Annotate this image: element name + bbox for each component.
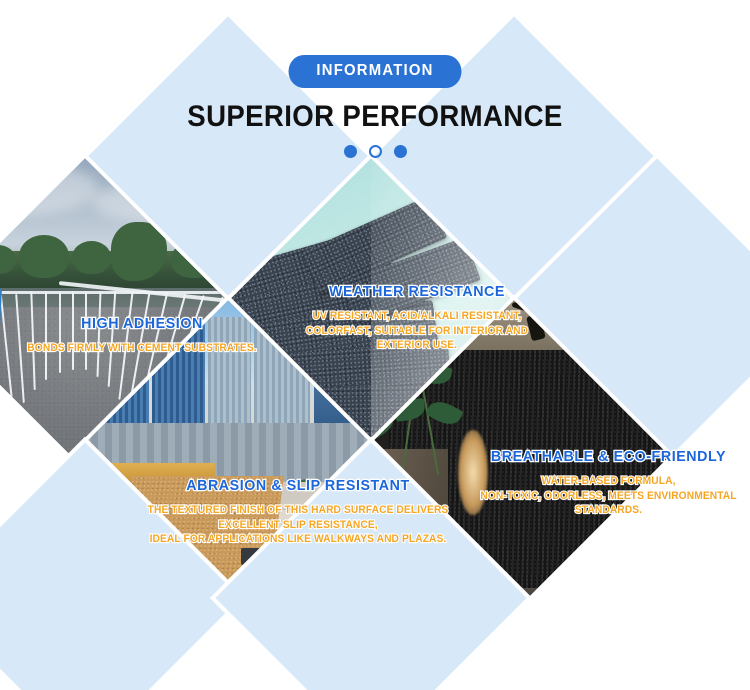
carousel-dots[interactable] (0, 145, 750, 158)
information-banner: INFORMATION SUPERIOR PERFORMANCE HIGH AD… (0, 0, 750, 690)
carousel-dot-1-icon[interactable] (344, 145, 357, 158)
page-title: SUPERIOR PERFORMANCE (30, 102, 720, 132)
carousel-dot-2-icon[interactable] (369, 145, 382, 158)
carousel-dot-3-icon[interactable] (394, 145, 407, 158)
banner-header: INFORMATION SUPERIOR PERFORMANCE (0, 0, 750, 158)
information-badge[interactable]: INFORMATION (289, 55, 462, 88)
